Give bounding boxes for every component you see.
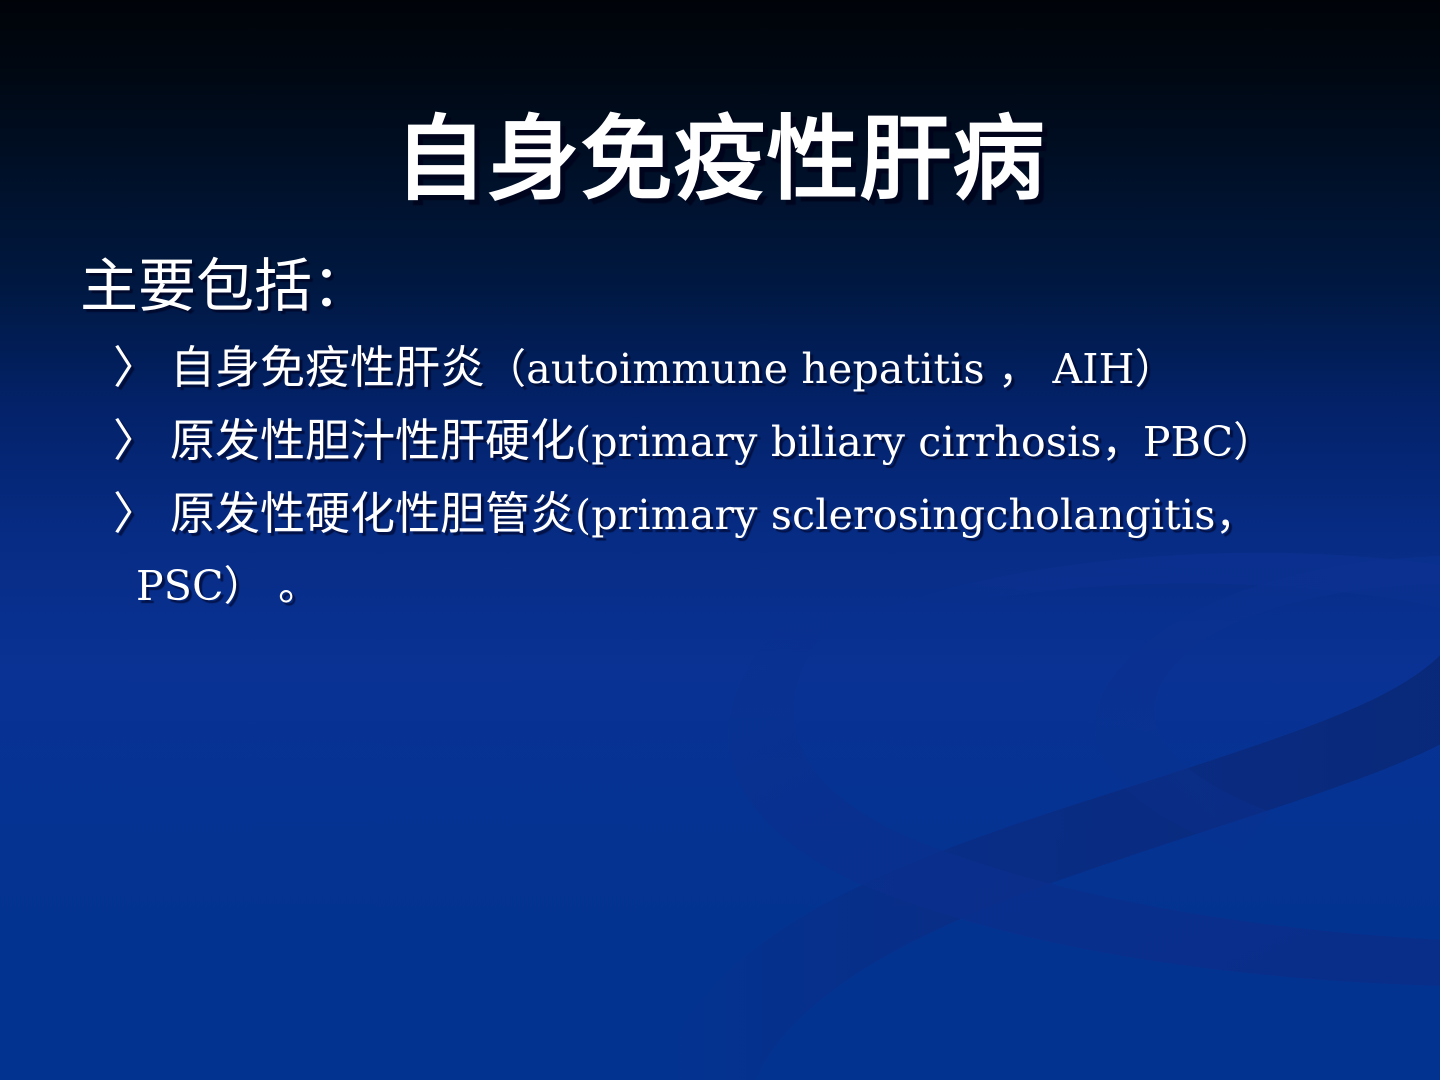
list-item: 〉自身免疫性肝炎（autoimmune hepatitis ， AIH）	[80, 332, 1410, 405]
bullet-text-cjk: 原发性胆汁性肝硬化	[170, 414, 575, 467]
bullet-marker-icon: 〉	[114, 332, 170, 405]
list-item: 〉原发性胆汁性肝硬化(primary biliary cirrhosis，PBC…	[80, 405, 1410, 478]
page-title: 自身免疫性肝病	[0, 112, 1440, 209]
bullet-text-wrap: PSC） 。	[115, 553, 1410, 619]
bullet-text-latin: (primary sclerosingcholangitis，	[575, 491, 1257, 539]
presentation-slide: 自身免疫性肝病 主要包括： 〉自身免疫性肝炎（autoimmune hepati…	[0, 0, 1440, 1080]
bullet-text-latin: (primary biliary cirrhosis，PBC）	[575, 418, 1275, 466]
bullet-list: 〉自身免疫性肝炎（autoimmune hepatitis ， AIH） 〉原发…	[80, 332, 1410, 619]
slide-body: 主要包括： 〉自身免疫性肝炎（autoimmune hepatitis ， AI…	[80, 252, 1410, 620]
lead-text: 主要包括：	[80, 252, 1410, 320]
bullet-text-cjk: 自身免疫性肝炎	[170, 341, 485, 394]
bullet-text-latin: （autoimmune hepatitis ， AIH）	[485, 345, 1176, 393]
list-item: 〉原发性硬化性胆管炎(primary sclerosingcholangitis…	[80, 478, 1410, 619]
bullet-marker-icon: 〉	[114, 478, 170, 551]
bullet-text-cjk: 原发性硬化性胆管炎	[170, 487, 575, 540]
bullet-marker-icon: 〉	[114, 405, 170, 478]
